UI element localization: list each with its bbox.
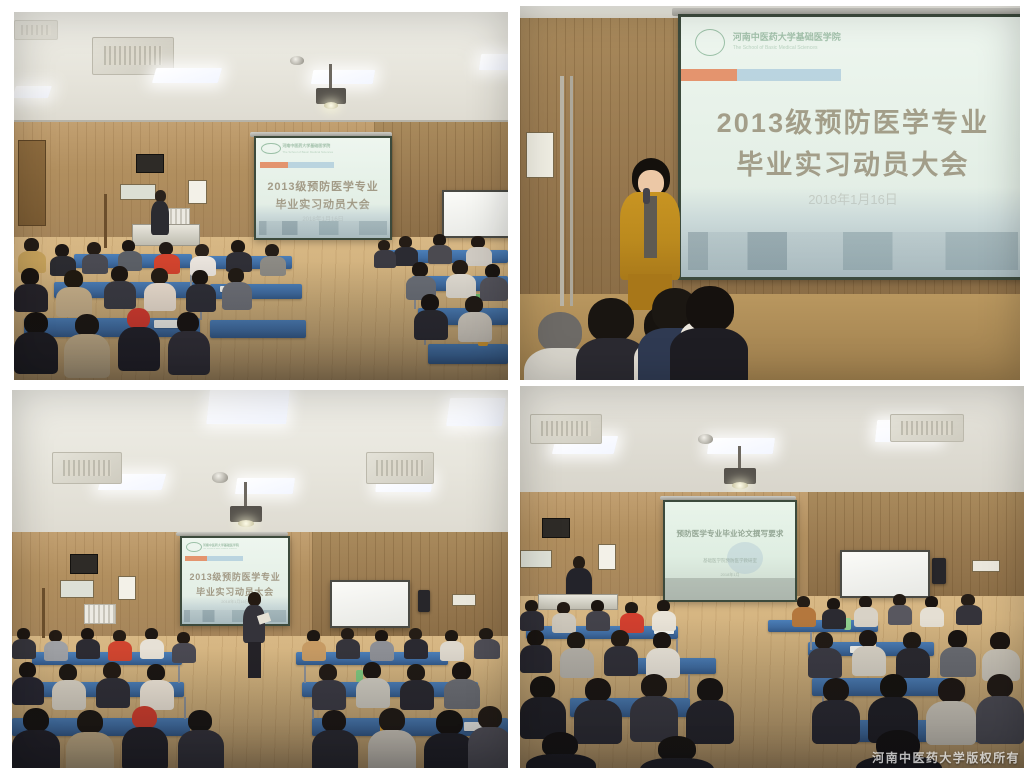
- wall-frame-plaque: [136, 154, 164, 173]
- ceiling-ac-vent-2: [366, 452, 434, 484]
- whiteboard: [442, 190, 508, 238]
- presenter-head: [248, 592, 261, 606]
- audience-member: [260, 244, 286, 274]
- audience-member: [356, 662, 390, 706]
- audience-member: [144, 268, 176, 310]
- slide-header: 河南中医药大学基础医学院 The School of Basic Medical…: [186, 541, 284, 555]
- audience-member: [186, 270, 216, 312]
- audience-member: [444, 662, 480, 706]
- wall-notice-sign: [118, 576, 136, 600]
- university-logo-icon: [261, 143, 280, 154]
- audience-member: [896, 632, 930, 676]
- slide-header: 河南中医药大学基础医学院 The School of Basic Medical…: [695, 27, 1012, 63]
- audience-member: [888, 594, 912, 624]
- audience-member: [822, 598, 846, 628]
- desk: [428, 344, 508, 364]
- audience-member: [520, 630, 552, 672]
- audience-member: [520, 676, 566, 736]
- audience-member: [520, 600, 544, 630]
- audience-member: [956, 594, 982, 624]
- wall-sign-right: [452, 594, 476, 606]
- wall-frame-plaque: [70, 554, 98, 574]
- slide-accent-blue: [288, 162, 334, 168]
- wall-notice-sign: [188, 180, 207, 204]
- audience-member: [458, 296, 492, 340]
- audience-member: [52, 664, 86, 708]
- radiator: [84, 604, 116, 624]
- slide-org-name: 河南中医药大学基础医学院: [282, 143, 377, 149]
- projector-lens-icon: [732, 482, 748, 489]
- wall-sign-right: [972, 560, 1000, 572]
- slide-title-line2: 毕业实习动员大会: [681, 143, 1020, 182]
- audience-member: [808, 632, 842, 676]
- audience-member: [920, 596, 944, 626]
- microphone-icon: [643, 188, 650, 204]
- audience-member: [792, 596, 816, 626]
- audience-member: [976, 674, 1024, 740]
- university-logo-icon: [186, 542, 202, 552]
- audience-member: [400, 664, 434, 708]
- audience-member: [620, 602, 644, 632]
- audience-member: [474, 628, 500, 658]
- audience-member: [414, 294, 448, 338]
- audience-member: [686, 678, 734, 740]
- wall-notice-sign: [598, 544, 616, 570]
- projection-screen: 河南中医药大学基础医学院 The School of Basic Medical…: [678, 14, 1020, 280]
- audience-member: [312, 664, 346, 708]
- speaker-body: [151, 201, 169, 235]
- audience-member: [646, 632, 680, 676]
- projector-lens-icon: [324, 102, 338, 109]
- classroom-door[interactable]: [18, 140, 46, 226]
- photo-bottom-left: 河南中医药大学基础医学院 The School of Basic Medical…: [12, 390, 508, 768]
- audience-member: [12, 628, 36, 658]
- wall-schedule-board: [520, 550, 552, 568]
- projector-arm: [329, 64, 332, 90]
- projector-lens-icon: [238, 520, 254, 527]
- slide-accent-orange: [681, 69, 737, 81]
- audience-member: [122, 706, 168, 768]
- audience-front-row: [520, 282, 1020, 380]
- desk: [210, 320, 306, 338]
- slide-title-line1: 2013级预防医学专业: [256, 178, 390, 194]
- audience-member: [140, 664, 174, 708]
- photo-top-left: 河南中医药大学基础医学院 The School of Basic Medical…: [14, 12, 508, 380]
- audience-member: [446, 260, 476, 296]
- ceiling-light-4: [14, 86, 52, 98]
- slide-org-name-en: The School of Basic Medical Sciences: [733, 45, 993, 51]
- audience-member: [56, 270, 92, 314]
- audience-member: [222, 268, 252, 310]
- ceiling-light: [707, 438, 775, 454]
- slide-title-line1: 2013级预防医学专业: [681, 101, 1020, 140]
- photo-bottom-right: 预防医学专业毕业论文撰写要求 基础医学院预防医学教研室 2018年1月: [520, 386, 1024, 768]
- slide-org-name-en: The School of Basic Medical Sciences: [282, 150, 377, 154]
- audience-area: [520, 586, 1024, 768]
- audience-member: [14, 268, 48, 310]
- audience-member: [586, 600, 610, 630]
- slide-title-line1: 预防医学专业毕业论文撰写要求: [665, 528, 795, 539]
- ceiling-light: [206, 390, 290, 424]
- ceiling-ac-vent: [530, 414, 602, 444]
- photo-top-right: 河南中医药大学基础医学院 The School of Basic Medical…: [520, 6, 1020, 380]
- audience-member: [336, 628, 360, 658]
- slide-title-line1: 2013级预防医学专业: [182, 570, 288, 583]
- audience-area: [12, 626, 508, 768]
- audience-member: [480, 264, 508, 300]
- audience-member: [428, 234, 452, 262]
- audience-member: [552, 602, 576, 632]
- audience-member: [66, 710, 114, 768]
- dome-camera-icon: [212, 472, 228, 483]
- copyright-watermark: 河南中医药大学版权所有: [872, 749, 1020, 766]
- audience-member: [226, 240, 252, 270]
- audience-member: [108, 630, 132, 660]
- audience-member: [104, 266, 136, 308]
- audience-member: [370, 630, 394, 660]
- slide-org-name: 河南中医药大学基础医学院: [733, 30, 993, 43]
- audience-member: [140, 628, 164, 658]
- audience-member: [178, 710, 224, 768]
- ceiling-light-2: [446, 398, 506, 426]
- audience-member: [526, 732, 596, 768]
- audience-area: [14, 234, 508, 380]
- ceiling-light-2: [311, 70, 375, 84]
- wall-speaker: [418, 590, 430, 612]
- audience-member: [854, 596, 878, 626]
- desk-leg: [178, 665, 180, 683]
- slide-accent-orange: [260, 162, 288, 168]
- ceiling-ac-vent-2: [14, 20, 58, 40]
- projection-screen: 河南中医药大学基础医学院 The School of Basic Medical…: [180, 536, 290, 626]
- audience-member: [118, 308, 160, 370]
- wall-frame-plaque: [542, 518, 570, 538]
- slide-org-name-en: The School of Basic Medical Sciences: [203, 548, 278, 550]
- slide-org-name: 河南中医药大学基础医学院: [203, 543, 278, 547]
- photo-collage: 河南中医药大学基础医学院 The School of Basic Medical…: [0, 0, 1024, 768]
- audience-member: [394, 236, 418, 264]
- audience-member: [368, 708, 416, 768]
- audience-member: [424, 710, 474, 768]
- university-logo-icon: [695, 29, 725, 56]
- audience-member: [168, 312, 210, 374]
- dome-camera-icon: [698, 434, 713, 444]
- audience-member: [670, 286, 748, 380]
- ceiling-ac-vent-2: [890, 414, 964, 442]
- slide-accent-blue: [207, 556, 243, 561]
- audience-member: [14, 312, 58, 372]
- audience-member: [44, 630, 68, 660]
- audience-member: [12, 662, 44, 704]
- audience-member: [172, 632, 196, 662]
- audience-member: [18, 238, 46, 272]
- slide-background-photo: [681, 187, 1020, 277]
- wall-notice-board: [526, 132, 554, 178]
- slide-accent-blue: [737, 69, 841, 81]
- projection-screen: 河南中医药大学基础医学院 The School of Basic Medical…: [254, 136, 392, 240]
- ceiling-light-3: [479, 54, 508, 70]
- audience-member: [64, 314, 110, 376]
- audience-member: [440, 630, 464, 660]
- ceiling-light: [152, 68, 222, 83]
- presenter-scarf: [644, 196, 657, 258]
- desk-leg: [304, 665, 306, 683]
- audience-member: [560, 632, 594, 676]
- ceiling-ac-vent: [52, 452, 122, 484]
- ceiling: [14, 12, 508, 124]
- audience-member: [630, 674, 678, 738]
- audience-member: [812, 678, 860, 740]
- audience-member: [302, 630, 326, 660]
- audience-member: [982, 632, 1020, 678]
- audience-member: [406, 262, 436, 298]
- audience-member: [312, 710, 358, 768]
- slide-background-photo: [256, 204, 390, 238]
- audience-member: [96, 662, 130, 706]
- slide-subtitle-line1: 基础医学院预防医学教研室: [665, 558, 795, 564]
- slide-background-photo: [182, 596, 288, 624]
- wall-pipe-2: [570, 76, 573, 306]
- slide-header: 河南中医药大学基础医学院 The School of Basic Medical…: [261, 142, 384, 158]
- audience-member: [468, 706, 508, 768]
- audience-member: [574, 678, 622, 740]
- audience-member: [940, 630, 976, 674]
- dome-camera-icon: [290, 56, 304, 65]
- projector-arm: [738, 446, 741, 470]
- slide-accent-orange: [185, 556, 207, 561]
- audience-member: [374, 240, 396, 266]
- whiteboard: [330, 580, 410, 628]
- audience-member: [404, 628, 428, 658]
- audience-member: [76, 628, 100, 658]
- wall-schedule-board: [60, 580, 94, 598]
- audience-member: [852, 630, 886, 674]
- audience-member: [604, 630, 638, 674]
- audience-member: [652, 600, 676, 630]
- audience-member: [640, 736, 714, 768]
- wall-speaker: [932, 558, 946, 584]
- wall-pipe: [560, 76, 564, 306]
- audience-member: [12, 708, 60, 768]
